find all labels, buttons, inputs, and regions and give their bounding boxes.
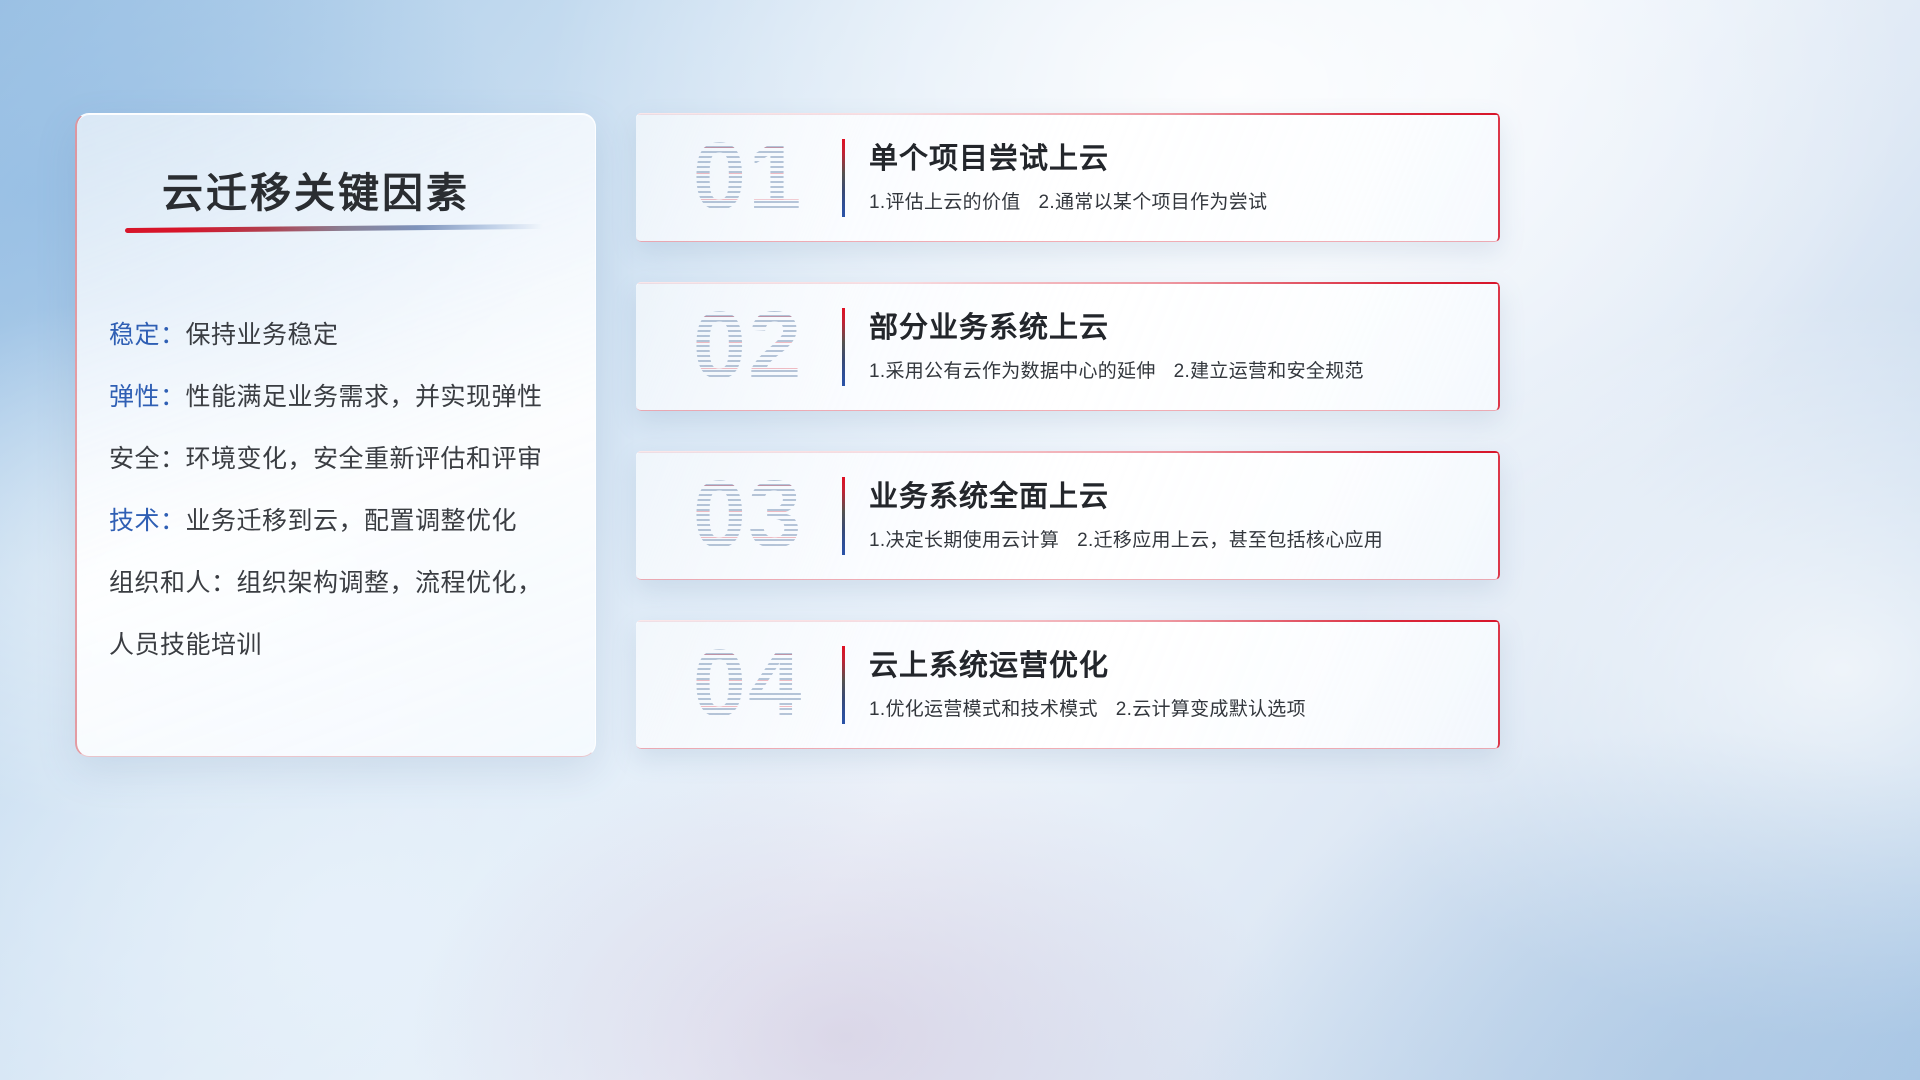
factor-text: 组织架构调整，流程优化， [237,569,543,597]
step-detail-1: 1.决定长期使用云计算 [869,530,1059,551]
factor-label: 安全： [109,445,186,473]
list-item: 技术：业务迁移到云，配置调整优化 [109,490,571,552]
step-divider-bar [842,308,845,386]
step-number-accent: 04 [658,628,838,740]
step-number-accent: 03 [658,459,838,571]
step-description: 1.评估上云的价值2.通常以某个项目作为尝试 [869,187,1267,214]
title-underline-accent [125,224,543,233]
step-detail-1: 1.优化运营模式和技术模式 [869,699,1098,720]
step-detail-1: 1.采用公有云作为数据中心的延伸 [869,361,1156,382]
key-factors-panel: 云迁移关键因素 稳定：保持业务稳定 弹性：性能满足业务需求，并实现弹性 安全：环… [75,113,596,757]
step-divider-bar [842,139,845,217]
page-title: 云迁移关键因素 [162,159,470,219]
step-detail-1: 1.评估上云的价值 [869,192,1021,213]
list-item: 组织和人：组织架构调整，流程优化， [109,552,571,614]
list-item-continuation: 人员技能培训 [109,614,571,676]
step-detail-2: 2.云计算变成默认选项 [1116,699,1306,720]
factor-text: 业务迁移到云，配置调整优化 [186,507,518,535]
step-divider-bar [842,646,845,724]
step-card[interactable]: 01 01 单个项目尝试上云 1.评估上云的价值2.通常以某个项目作为尝试 [636,113,1500,242]
step-title: 单个项目尝试上云 [869,135,1109,177]
step-description: 1.决定长期使用云计算2.迁移应用上云，甚至包括核心应用 [869,525,1383,552]
step-number-accent: 01 [658,121,838,233]
factor-list: 稳定：保持业务稳定 弹性：性能满足业务需求，并实现弹性 安全：环境变化，安全重新… [109,304,571,676]
step-divider-bar [842,477,845,555]
step-description: 1.优化运营模式和技术模式2.云计算变成默认选项 [869,694,1306,721]
factor-text: 环境变化，安全重新评估和评审 [186,445,543,473]
factor-label: 稳定： [109,321,186,349]
step-description: 1.采用公有云作为数据中心的延伸2.建立运营和安全规范 [869,356,1364,383]
step-card[interactable]: 02 02 部分业务系统上云 1.采用公有云作为数据中心的延伸2.建立运营和安全… [636,282,1500,411]
step-title: 业务系统全面上云 [869,473,1109,515]
factor-text: 保持业务稳定 [186,321,339,349]
list-item: 弹性：性能满足业务需求，并实现弹性 [109,366,571,428]
step-card[interactable]: 03 03 业务系统全面上云 1.决定长期使用云计算2.迁移应用上云，甚至包括核… [636,451,1500,580]
step-detail-2: 2.迁移应用上云，甚至包括核心应用 [1077,530,1383,551]
step-number-accent: 02 [658,290,838,402]
step-detail-2: 2.通常以某个项目作为尝试 [1039,192,1268,213]
step-detail-2: 2.建立运营和安全规范 [1174,361,1364,382]
step-title: 云上系统运营优化 [869,642,1109,684]
list-item: 安全：环境变化，安全重新评估和评审 [109,428,571,490]
list-item: 稳定：保持业务稳定 [109,304,571,366]
factor-text: 性能满足业务需求，并实现弹性 [186,383,543,411]
factor-label: 技术： [109,507,186,535]
migration-steps-list: 01 01 单个项目尝试上云 1.评估上云的价值2.通常以某个项目作为尝试 02… [636,113,1500,789]
step-card[interactable]: 04 04 云上系统运营优化 1.优化运营模式和技术模式2.云计算变成默认选项 [636,620,1500,749]
factor-label: 组织和人： [109,569,237,597]
step-title: 部分业务系统上云 [869,304,1109,346]
factor-label: 弹性： [109,383,186,411]
